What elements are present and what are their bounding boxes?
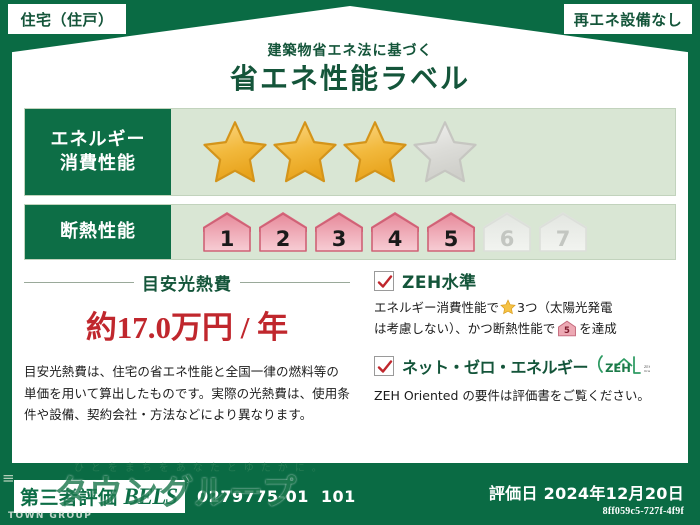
- bels-prefix: 第三者評価: [20, 483, 118, 510]
- evaluation-date: 評価日 2024年12月20日: [489, 480, 684, 504]
- svg-text:Oriented: Oriented: [644, 369, 650, 373]
- insulation-house-achieved: 1: [201, 210, 253, 254]
- insulation-level-number: 7: [556, 227, 571, 251]
- insulation-level-number: 2: [276, 227, 291, 251]
- insulation-level-number: 5: [444, 227, 459, 251]
- badge-building-type-label: 住宅（住戸）: [20, 9, 113, 30]
- heading-rule-right: [240, 282, 350, 283]
- label-footer: 第三者評価 BELS 0279775-01 101 評価日 2024年12月20…: [0, 459, 700, 525]
- utility-cost-note: 目安光熱費は、住宅の省エネ性能と全国一律の燃料等の単価を用いて算出したものです。…: [24, 361, 350, 426]
- insulation-house-inactive: 6: [481, 210, 533, 254]
- insulation-house-achieved: 3: [313, 210, 365, 254]
- utility-cost-amount: 約17.0万円 / 年: [24, 302, 350, 347]
- bels-number: 0279775-01: [197, 487, 309, 506]
- evaluation-hash: 8ff059c5-727f-4f9f: [489, 506, 684, 517]
- criterion-zeh-standard-title: ZEH水準: [402, 268, 477, 293]
- insulation-level-number: 3: [332, 227, 347, 251]
- evaluation-info: 評価日 2024年12月20日 8ff059c5-727f-4f9f: [489, 480, 684, 517]
- insulation-house-achieved: 2: [257, 210, 309, 254]
- utility-cost-heading: 目安光熱費: [24, 270, 350, 295]
- heading-rule-left: [24, 282, 134, 283]
- criterion-zeh-standard-desc: エネルギー消費性能で3つ（太陽光発電 は考慮しない）、かつ断熱性能で5を達成: [374, 297, 676, 339]
- checkbox-net-zero-energy[interactable]: [374, 356, 394, 376]
- insulation-performance-label: 断熱性能: [25, 205, 171, 259]
- badge-building-type: 住宅（住戸）: [8, 4, 126, 34]
- bels-certification: 第三者評価 BELS 0279775-01 101: [14, 480, 356, 513]
- insulation-level-number: 6: [500, 227, 515, 251]
- energy-performance-label-line1: エネルギー: [51, 128, 146, 152]
- criterion-net-zero-energy-title: ネット・ゼロ・エネルギー: [402, 354, 588, 378]
- energy-label-root: 住宅（住戸） 再エネ設備なし 建築物省エネ法に基づく 省エネ性能ラベル エネルギ…: [0, 0, 700, 525]
- insulation-house-achieved: 5: [425, 210, 477, 254]
- criteria-panel: ZEH水準 エネルギー消費性能で3つ（太陽光発電 は考慮しない）、かつ断熱性能で…: [360, 268, 676, 428]
- criterion-desc-part2: は考慮しない）、かつ断熱性能で: [374, 321, 555, 336]
- svg-text:5: 5: [564, 325, 570, 335]
- criterion-desc-part3: を達成: [579, 321, 617, 336]
- criterion-net-zero-energy: ネット・ゼロ・エネルギー ZEH ZEH Oriented: [374, 351, 676, 406]
- bels-unit: 101: [321, 487, 356, 506]
- lower-section: 目安光熱費 約17.0万円 / 年 目安光熱費は、住宅の省エネ性能と全国一律の燃…: [24, 268, 676, 428]
- badge-renewable-equipment-label: 再エネ設備なし: [574, 9, 683, 30]
- house-icon-inline: 5: [557, 320, 577, 337]
- svg-text:ZEH: ZEH: [644, 365, 650, 369]
- title-subtitle: 建築物省エネ法に基づく: [0, 44, 700, 59]
- badge-renewable-equipment: 再エネ設備なし: [564, 4, 692, 34]
- insulation-performance-scale: 1234567: [171, 205, 675, 259]
- star-icon-filled: [341, 119, 409, 185]
- label-content: エネルギー 消費性能 断熱性能 1234567 目安光熱費: [24, 108, 676, 453]
- energy-performance-row: エネルギー 消費性能: [24, 108, 676, 196]
- check-icon: [377, 274, 393, 290]
- svg-text:ZEH: ZEH: [605, 361, 631, 375]
- insulation-house-inactive: 7: [537, 210, 589, 254]
- criterion-zeh-standard-head: ZEH水準: [374, 268, 676, 293]
- check-icon: [377, 359, 393, 375]
- checkbox-zeh-standard[interactable]: [374, 271, 394, 291]
- energy-performance-stars: [171, 109, 675, 195]
- zeh-oriented-logo: ZEH ZEH Oriented: [598, 351, 650, 381]
- utility-cost-heading-text: 目安光熱費: [142, 270, 232, 295]
- criterion-net-zero-energy-desc: ZEH Oriented の要件は評価書をご覧ください。: [374, 385, 676, 406]
- criterion-desc-part1: エネルギー消費性能で: [374, 300, 499, 315]
- criterion-desc-stars: 3つ（太陽光発電: [517, 300, 612, 315]
- star-icon-filled: [271, 119, 339, 185]
- page-title: 建築物省エネ法に基づく 省エネ性能ラベル: [0, 44, 700, 96]
- insulation-level-number: 1: [220, 227, 235, 251]
- bels-badge: 第三者評価 BELS: [14, 480, 185, 513]
- insulation-level-number: 4: [388, 227, 403, 251]
- insulation-house-achieved: 4: [369, 210, 421, 254]
- star-icon-empty: [411, 119, 479, 185]
- bels-logo: BELS: [124, 484, 178, 510]
- insulation-performance-row: 断熱性能 1234567: [24, 204, 676, 260]
- energy-performance-label-line2: 消費性能: [60, 152, 136, 176]
- star-icon-filled: [201, 119, 269, 185]
- star-icon-inline: [500, 299, 516, 315]
- title-main: 省エネ性能ラベル: [0, 62, 700, 96]
- insulation-performance-label-text: 断熱性能: [60, 220, 136, 244]
- utility-cost-panel: 目安光熱費 約17.0万円 / 年 目安光熱費は、住宅の省エネ性能と全国一律の燃…: [24, 268, 360, 428]
- criterion-net-zero-energy-head: ネット・ゼロ・エネルギー ZEH ZEH Oriented: [374, 351, 676, 381]
- zeh-logo-icon: ZEH ZEH Oriented: [598, 351, 650, 377]
- criterion-zeh-standard: ZEH水準 エネルギー消費性能で3つ（太陽光発電 は考慮しない）、かつ断熱性能で…: [374, 268, 676, 339]
- energy-performance-label: エネルギー 消費性能: [25, 109, 171, 195]
